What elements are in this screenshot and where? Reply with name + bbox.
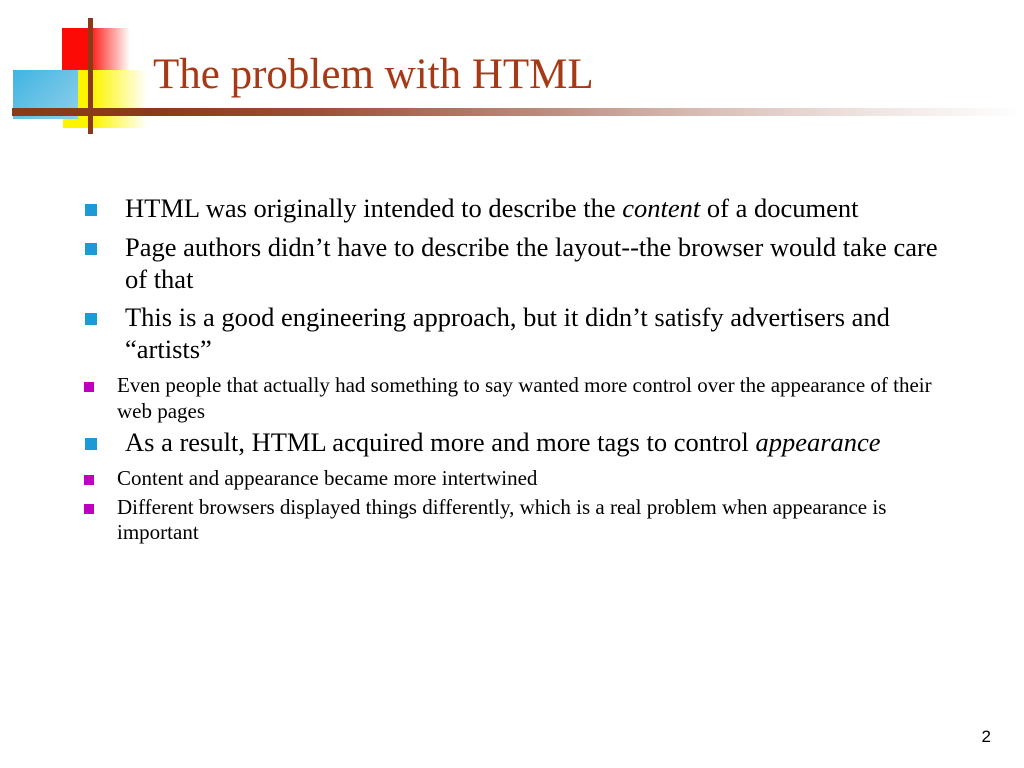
bullet-square-icon [85,313,97,325]
bullet-text: Different browsers displayed things diff… [117,495,886,545]
bullet-square-icon [85,204,97,216]
bullet-item-level1: As a result, HTML acquired more and more… [84,427,964,459]
bullet-sublist: Even people that actually had something … [84,373,964,424]
bullet-text: Even people that actually had something … [117,373,932,423]
bullet-list: HTML was originally intended to describe… [84,193,964,546]
sub-bullet-square-icon [84,475,94,485]
bullet-item-level2: Content and appearance became more inter… [84,466,964,492]
bullet-text: HTML was originally intended to describe… [125,193,622,223]
bullet-text: Page authors didn’t have to describe the… [125,232,938,294]
vertical-bar-icon [88,18,93,134]
bullet-text: As a result, HTML acquired more and more… [125,427,755,457]
sub-bullet-square-icon [84,382,94,392]
bullet-text: Content and appearance became more inter… [117,466,537,490]
bullet-item-level2: Even people that actually had something … [84,373,964,424]
bullet-text-emphasis: appearance [755,427,880,457]
title-divider [12,108,1024,116]
slide-body: HTML was originally intended to describe… [84,193,964,549]
bullet-text-emphasis: content [622,193,700,223]
sub-bullet-square-icon [84,504,94,514]
bullet-item-level2: Different browsers displayed things diff… [84,495,964,546]
bullet-sublist: Content and appearance became more inter… [84,466,964,546]
bullet-square-icon [85,243,97,255]
bullet-text: of a document [700,193,858,223]
yellow-square-icon [63,70,147,128]
red-square-icon [62,28,130,72]
slide-title: The problem with HTML [153,52,993,97]
bullet-text: This is a good engineering approach, but… [125,302,890,364]
bullet-item-level1: This is a good engineering approach, but… [84,302,964,366]
slide-canvas: The problem with HTML HTML was originall… [0,0,1024,768]
bullet-square-icon [85,438,97,450]
bullet-item-level1: Page authors didn’t have to describe the… [84,232,964,296]
bullet-item-level1: HTML was originally intended to describe… [84,193,964,225]
page-number: 2 [982,727,991,747]
